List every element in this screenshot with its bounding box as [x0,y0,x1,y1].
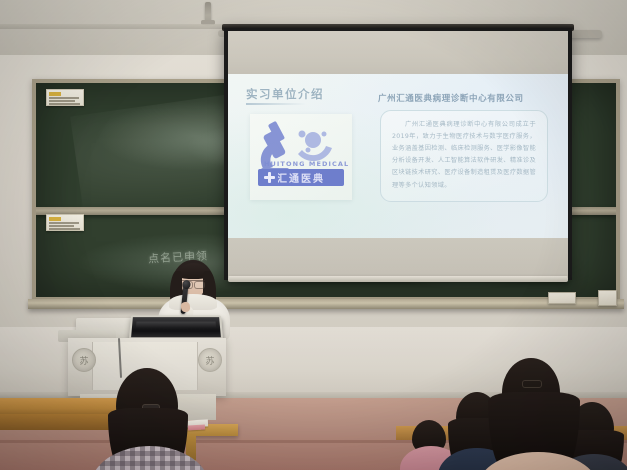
projection-surface: 实习单位介绍 [228,31,568,277]
chalk-eraser[interactable] [548,292,576,304]
company-description-text: 广州汇通医典病理诊断中心有限公司成立于2019年，致力于生物医疗技术与数字医疗服… [392,119,536,192]
ceiling-rail [0,24,230,29]
audience-glasses [522,380,542,388]
slide-title: 实习单位介绍 [246,86,324,102]
ceiling-hook-icon [205,2,211,24]
microscope-icon [250,114,352,200]
medical-cross-icon [261,169,278,186]
presentation-slide: 实习单位介绍 [228,74,568,238]
chalk-tray [28,299,624,309]
company-description-box: 广州汇通医典病理诊断中心有限公司成立于2019年，致力于生物医疗技术与数字医疗服… [380,110,548,202]
audience-front-center [86,368,212,470]
screen-bottom-weight-bar [228,276,568,282]
screen-blank-area-top [228,31,568,74]
presenter-hood [169,294,217,310]
logo-english-name: HUITONG MEDICAL [264,160,349,168]
audience-shoulders [90,446,210,470]
audience-right-long-hair [478,358,598,470]
company-heading: 广州汇通医典病理诊断中心有限公司 [378,92,524,104]
chalk-box[interactable] [598,290,617,306]
slide-title-underline [246,103,306,105]
board-label-upper [46,89,84,106]
screen-blank-area-bottom [228,238,568,277]
company-logo-card: HUITONG MEDICAL 汇通医典 [250,114,352,200]
classroom-presentation-photo: 点名已申领 实习单位介绍 [0,0,627,470]
projection-screen: 实习单位介绍 [224,28,572,280]
board-label-lower [46,214,84,231]
podium-monitor[interactable] [129,315,223,339]
logo-chinese-name: 汇通医典 [277,170,325,185]
